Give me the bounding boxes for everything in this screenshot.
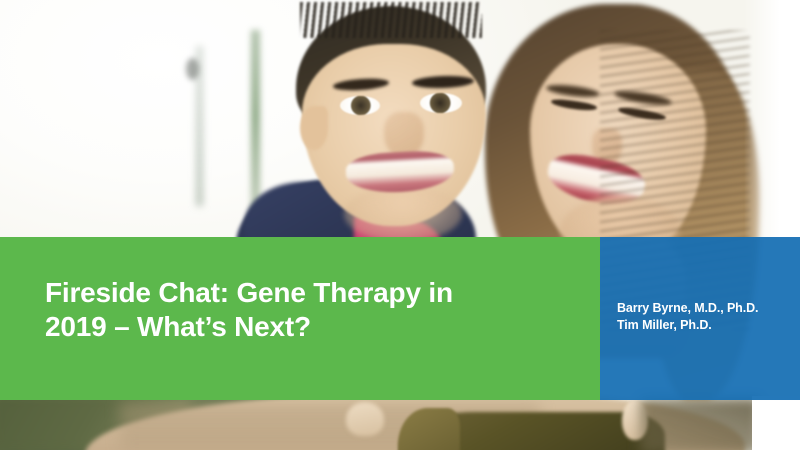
boy-chin (344, 186, 462, 242)
speaker-name-1: Barry Byrne, M.D., Ph.D. (617, 300, 792, 317)
photo-background-lamp (186, 58, 199, 80)
boy-eye-right (420, 93, 462, 113)
slide-title-line-1: Fireside Chat: Gene Therapy in (45, 276, 575, 310)
photo-thumb (346, 402, 384, 436)
boy-eye-left (340, 96, 380, 115)
photo-right-highlight (744, 0, 800, 240)
speaker-list: Barry Byrne, M.D., Ph.D. Tim Miller, Ph.… (617, 300, 792, 334)
slide-title-line-2: 2019 – What’s Next? (45, 310, 575, 344)
photo-foreground-shadow-right (640, 398, 760, 450)
boy-hair-texture (300, 2, 482, 38)
presentation-slide: Fireside Chat: Gene Therapy in 2019 – Wh… (0, 0, 800, 450)
speaker-name-2: Tim Miller, Ph.D. (617, 317, 792, 334)
photo-bottom-right-white (752, 396, 800, 450)
boy-ear (300, 106, 328, 150)
slide-title: Fireside Chat: Gene Therapy in 2019 – Wh… (45, 276, 575, 344)
